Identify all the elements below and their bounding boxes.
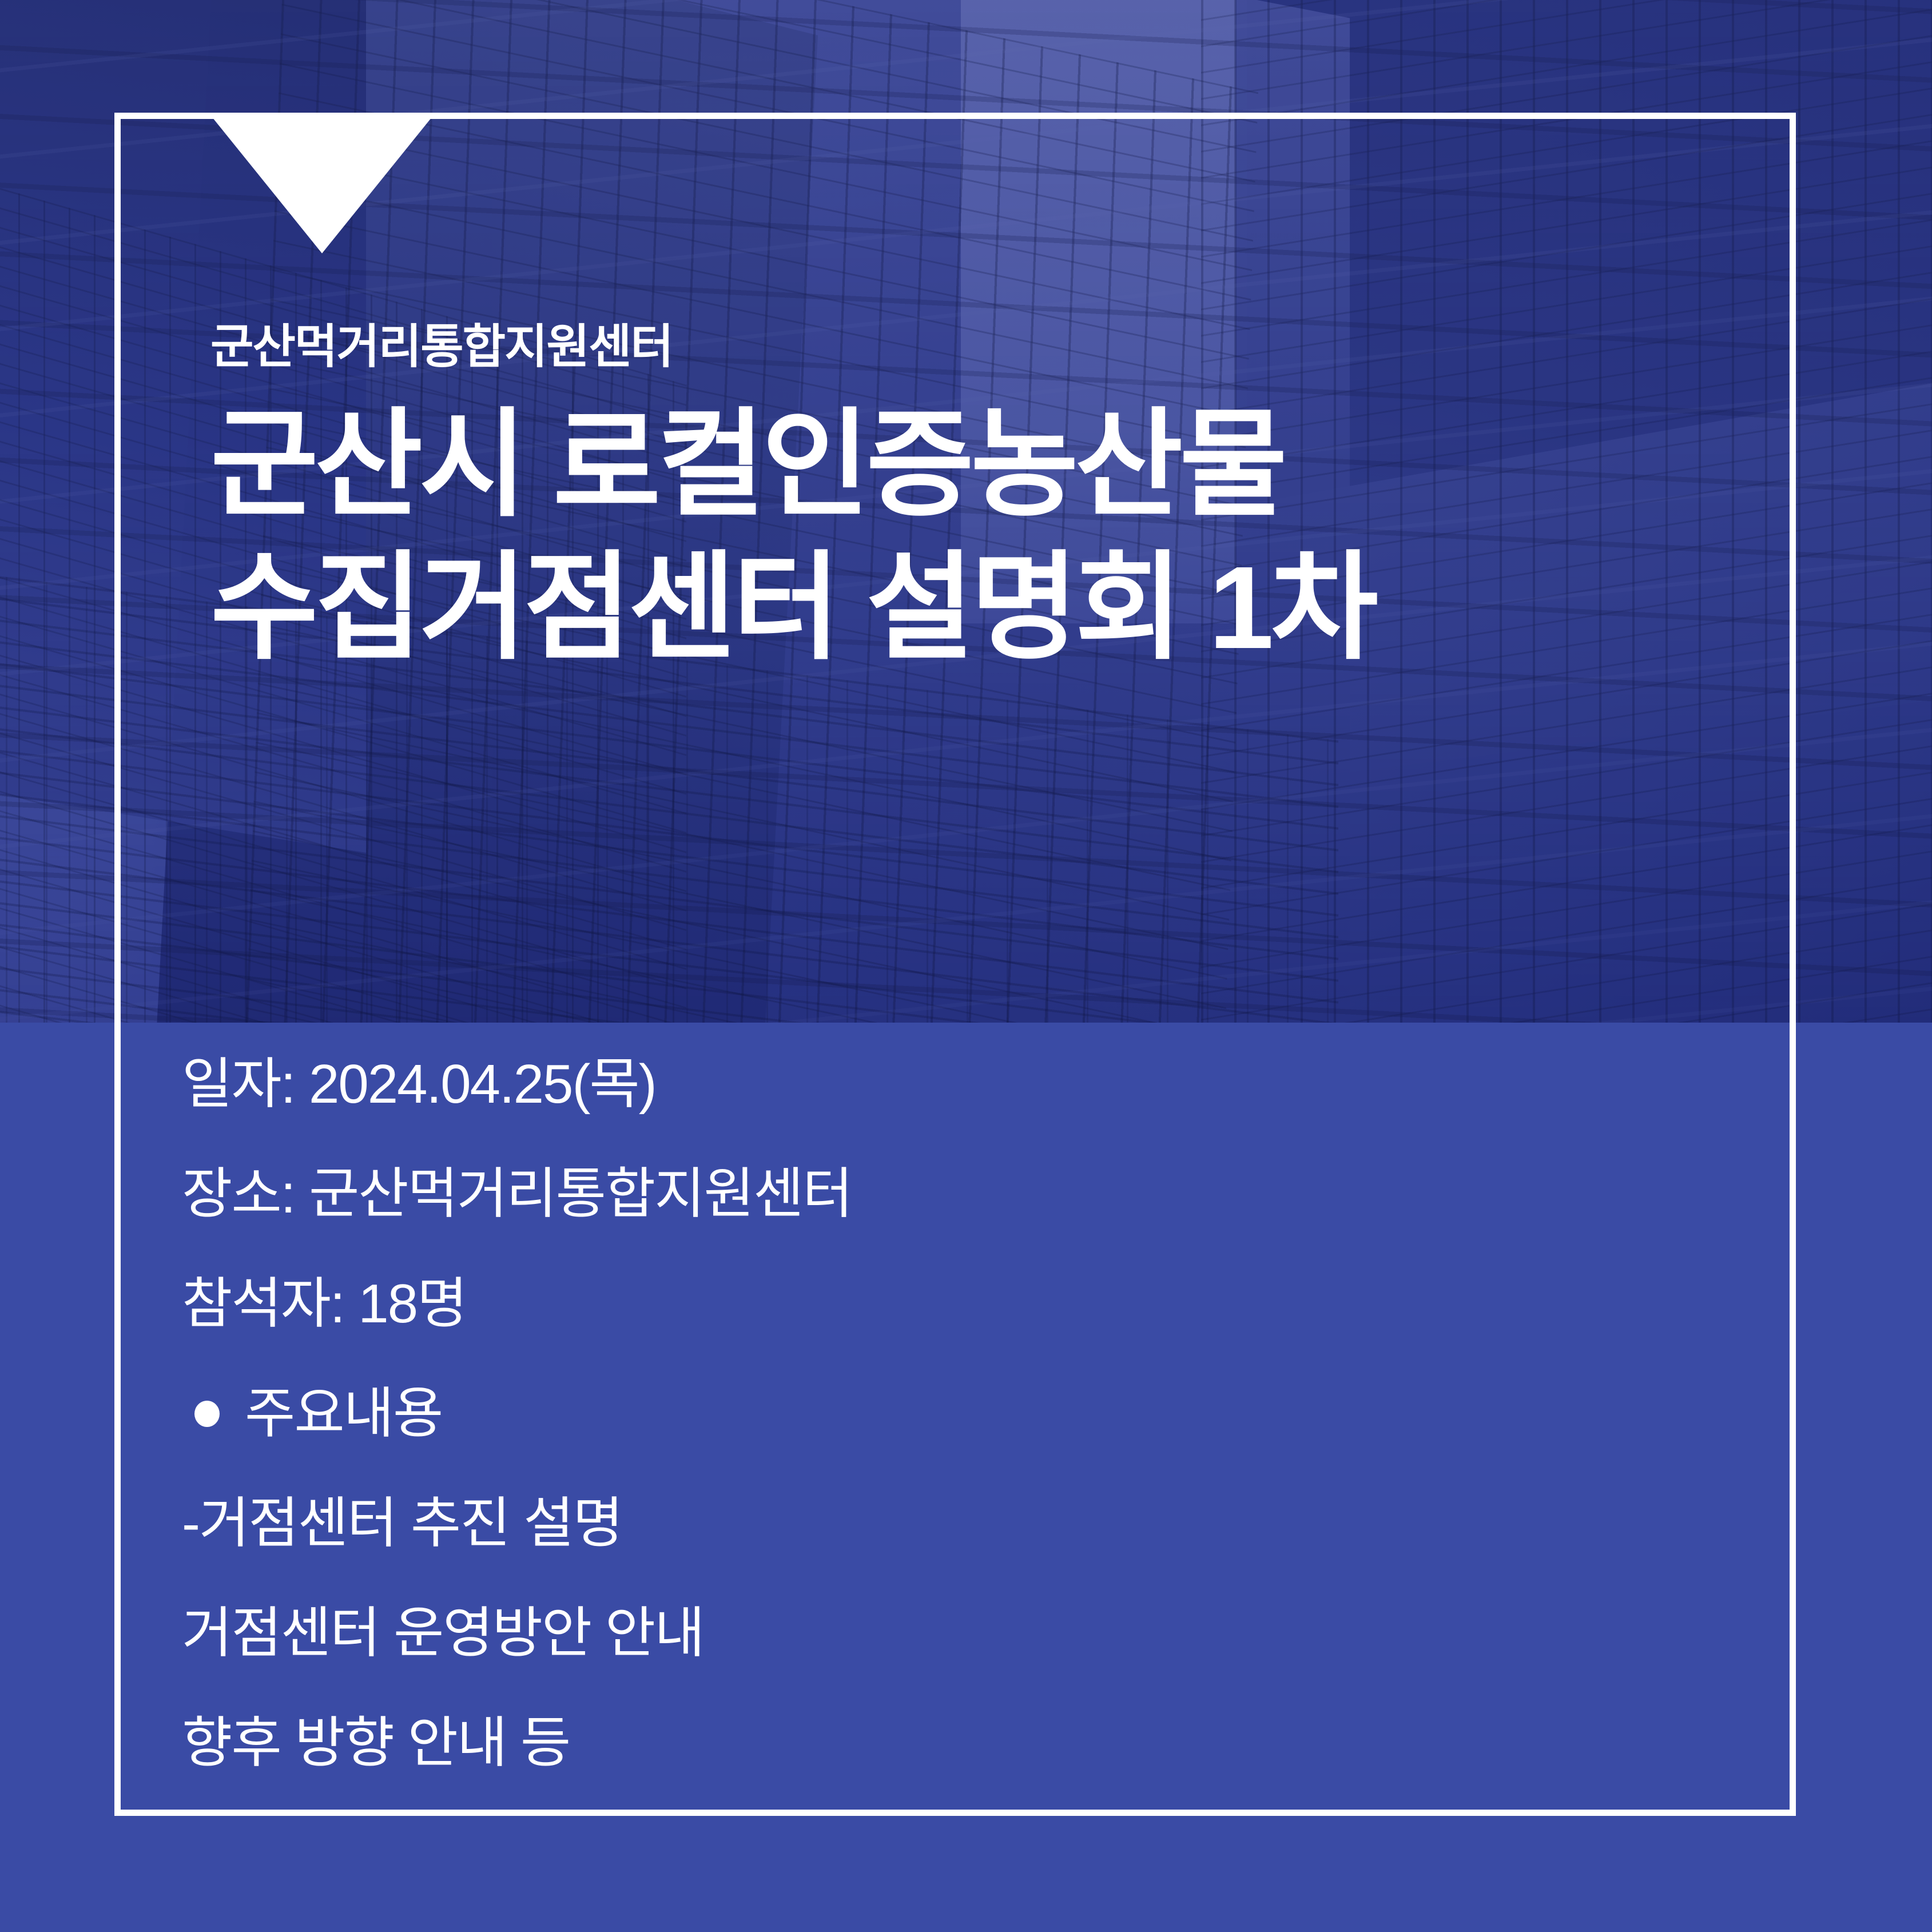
page-title-line-1: 군산시 로컬인증농산물: [210, 393, 1755, 536]
triangle-down-icon: [210, 114, 434, 253]
detail-text: 장소: 군산먹거리통합지원센터: [182, 1167, 852, 1222]
organization-name: 군산먹거리통합지원센터: [210, 320, 1755, 374]
detail-text: 참석자: 18명: [182, 1277, 466, 1331]
detail-row-attendees: 참석자: 18명: [182, 1277, 1726, 1331]
detail-text: 주요내용: [245, 1386, 442, 1441]
detail-row-location: 장소: 군산먹거리통합지원센터: [182, 1167, 1726, 1222]
detail-row-main-contents-heading: 주요내용: [182, 1386, 1726, 1441]
poster-card: 군산먹거리통합지원센터 군산시 로컬인증농산물 수집거점센터 설명회 1차 일자…: [0, 0, 1932, 1932]
detail-text: -거점센터 추진 설명: [182, 1496, 622, 1551]
detail-text: 향후 방향 안내 등: [182, 1716, 570, 1771]
detail-row-content-2: 거점센터 운영방안 안내: [182, 1606, 1726, 1661]
page-title-line-2: 수집거점센터 설명회 1차: [210, 536, 1755, 679]
detail-row-content-3: 향후 방향 안내 등: [182, 1716, 1726, 1771]
detail-text: 일자: 2024.04.25(목): [182, 1057, 656, 1112]
detail-row-content-1: -거점센터 추진 설명: [182, 1496, 1726, 1551]
event-details-block: 일자: 2024.04.25(목) 장소: 군산먹거리통합지원센터 참석자: 1…: [182, 1057, 1726, 1771]
detail-text: 거점센터 운영방안 안내: [182, 1606, 704, 1661]
detail-row-date: 일자: 2024.04.25(목): [182, 1057, 1726, 1112]
headline-block: 군산먹거리통합지원센터 군산시 로컬인증농산물 수집거점센터 설명회 1차: [210, 320, 1755, 679]
bullet-dot-icon: [194, 1401, 220, 1427]
